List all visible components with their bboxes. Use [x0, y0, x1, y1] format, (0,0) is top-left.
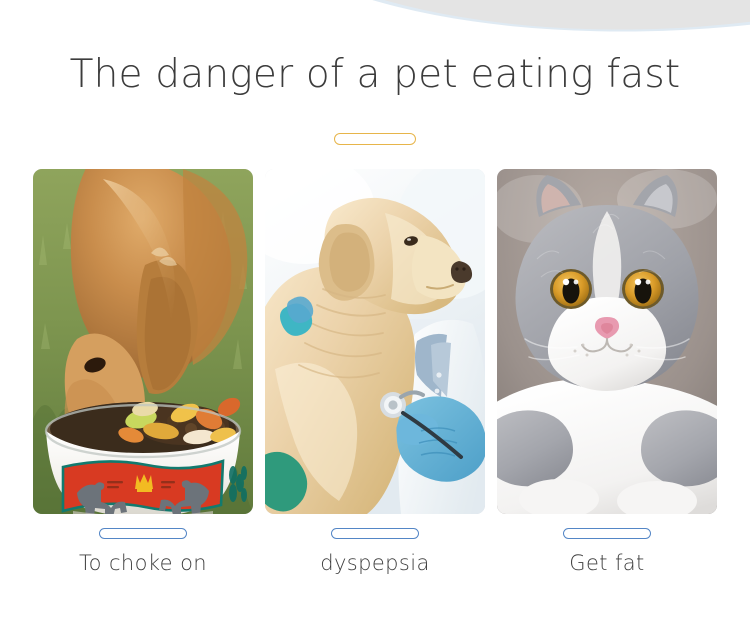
photo-vet-checkup — [265, 169, 485, 514]
gray-arc-shape — [210, 0, 750, 54]
dog-eating-illustration — [33, 169, 253, 514]
blue-arc-shape — [225, 0, 750, 53]
card-label-get-fat: Get fat — [569, 551, 644, 575]
photo-fat-cat — [497, 169, 717, 514]
card-get-fat[interactable]: Get fat — [497, 169, 717, 575]
promo-banner: The danger of a pet eating fast — [0, 0, 750, 620]
fat-cat-illustration — [497, 169, 717, 514]
title-divider-pill — [334, 133, 416, 145]
card-accent-pill — [331, 528, 419, 539]
card-label-to-choke-on: To choke on — [79, 551, 207, 575]
card-accent-pill — [563, 528, 651, 539]
cards-row: To choke on — [33, 169, 717, 575]
page-title: The danger of a pet eating fast — [0, 52, 750, 97]
card-accent-pill — [99, 528, 187, 539]
card-label-dyspepsia: dyspepsia — [320, 551, 430, 575]
vet-checkup-illustration — [265, 169, 485, 514]
card-dyspepsia[interactable]: dyspepsia — [265, 169, 485, 575]
photo-dog-eating-bowl — [33, 169, 253, 514]
card-to-choke-on[interactable]: To choke on — [33, 169, 253, 575]
